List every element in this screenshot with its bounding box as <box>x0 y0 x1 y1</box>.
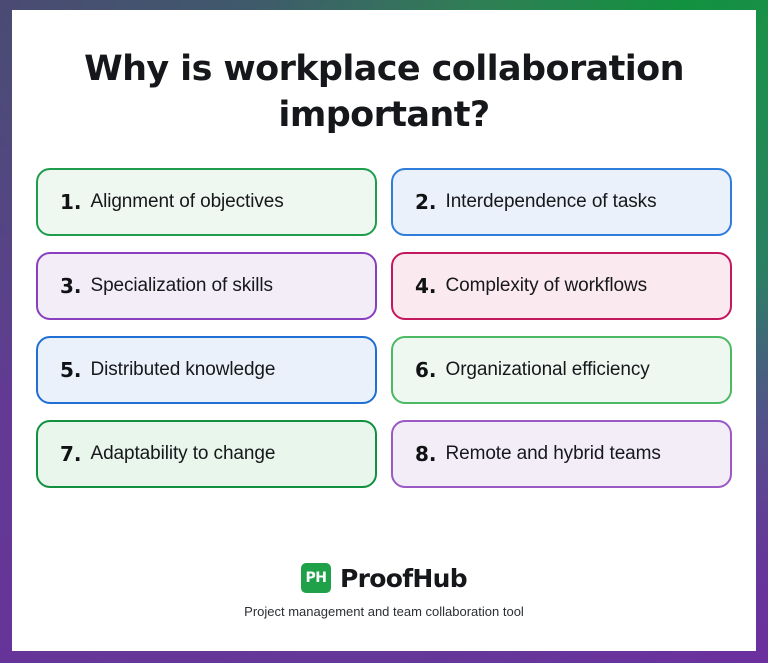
content-panel: Why is workplace collaboration important… <box>12 10 756 651</box>
brand-tagline: Project management and team collaboratio… <box>12 604 756 619</box>
reason-card-2: 2. Interdependence of tasks <box>391 168 732 236</box>
reason-number: 6. <box>415 358 437 382</box>
page-title: Why is workplace collaboration important… <box>72 46 696 138</box>
reason-label: Remote and hybrid teams <box>446 443 661 465</box>
proofhub-logo-icon: PH <box>301 563 331 593</box>
reason-card-3: 3. Specialization of skills <box>36 252 377 320</box>
reason-label: Interdependence of tasks <box>446 191 657 213</box>
reason-number: 5. <box>60 358 82 382</box>
reason-number: 2. <box>415 190 437 214</box>
reason-number: 1. <box>60 190 82 214</box>
reason-card-4: 4. Complexity of workflows <box>391 252 732 320</box>
reason-number: 4. <box>415 274 437 298</box>
infographic-frame: Why is workplace collaboration important… <box>0 0 768 663</box>
reason-label: Organizational efficiency <box>446 359 650 381</box>
reason-card-1: 1. Alignment of objectives <box>36 168 377 236</box>
brand-logo: PH ProofHub <box>12 563 756 593</box>
reason-number: 3. <box>60 274 82 298</box>
brand-name: ProofHub <box>340 566 467 591</box>
reason-label: Specialization of skills <box>91 275 273 297</box>
reason-card-7: 7. Adaptability to change <box>36 420 377 488</box>
reason-label: Complexity of workflows <box>446 275 647 297</box>
reason-label: Distributed knowledge <box>91 359 276 381</box>
reason-card-6: 6. Organizational efficiency <box>391 336 732 404</box>
reasons-grid: 1. Alignment of objectives 2. Interdepen… <box>12 168 756 488</box>
logo-mark-label: PH <box>306 571 327 585</box>
title-block: Why is workplace collaboration important… <box>12 10 756 138</box>
reason-card-8: 8. Remote and hybrid teams <box>391 420 732 488</box>
reason-card-5: 5. Distributed knowledge <box>36 336 377 404</box>
reason-number: 7. <box>60 442 82 466</box>
reason-number: 8. <box>415 442 437 466</box>
reason-label: Adaptability to change <box>91 443 276 465</box>
reason-label: Alignment of objectives <box>91 191 284 213</box>
footer: PH ProofHub Project management and team … <box>12 563 756 651</box>
